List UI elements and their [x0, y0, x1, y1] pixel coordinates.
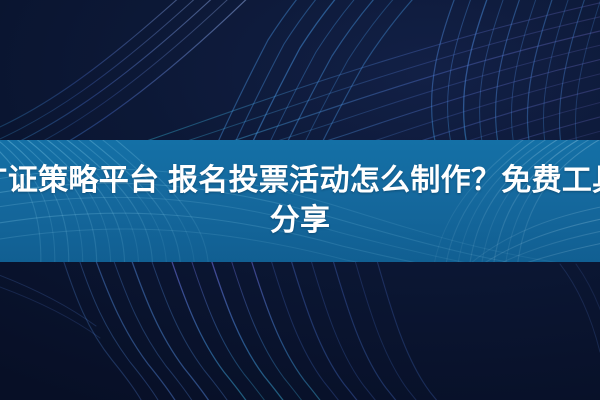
headline-line-1: 广证策略平台 报名投票活动怎么制作？免费工具 [0, 161, 600, 201]
banner-image: 广证策略平台 报名投票活动怎么制作？免费工具 分享 [0, 0, 600, 400]
headline-text: 广证策略平台 报名投票活动怎么制作？免费工具 分享 [0, 140, 600, 262]
headline-band: 广证策略平台 报名投票活动怎么制作？免费工具 分享 [0, 140, 600, 262]
headline-line-2: 分享 [270, 201, 331, 241]
